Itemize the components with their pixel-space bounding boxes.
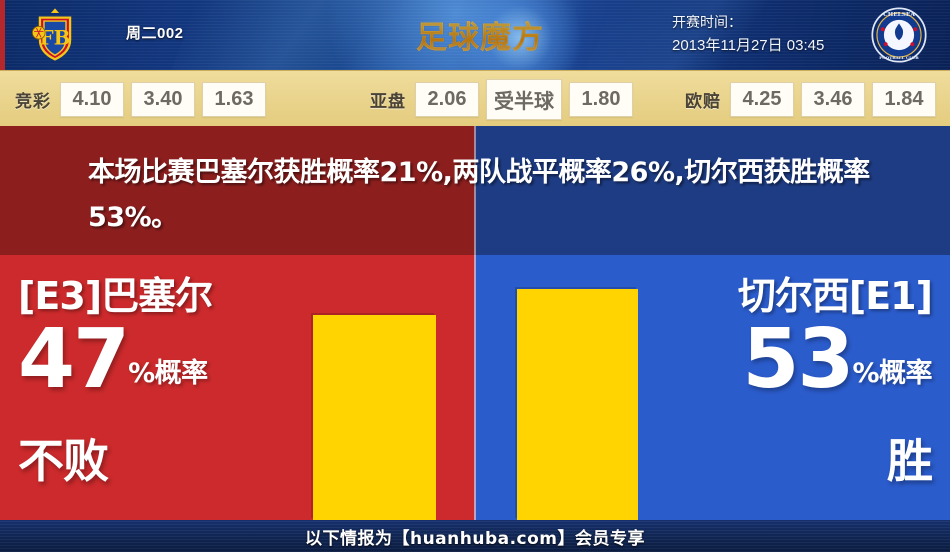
odds-group-label: 欧赔 — [685, 87, 721, 112]
header-left-accent — [0, 0, 5, 70]
probability-summary-text: 本场比赛巴塞尔获胜概率21%,两队战平概率26%,切尔西获胜概率53%。 — [88, 150, 878, 240]
odds-cell-draw[interactable]: 3.40 — [131, 82, 195, 117]
home-probability-row: 47 %概率 — [18, 323, 318, 397]
odds-group-asian-handicap: 亚盘 2.06 受半球 1.80 — [370, 71, 640, 127]
odds-cell-away-win[interactable]: 1.63 — [202, 82, 266, 117]
home-team-block: [E3]巴塞尔 47 %概率 不败 — [18, 255, 318, 520]
header-bar: FB 周二002 足球魔方 开赛时间： 2013年11月27日 03:45 CH… — [0, 0, 950, 70]
footer-bar: 以下情报为【huanhuba.com】会员专享 — [0, 520, 950, 552]
main-divider — [474, 255, 476, 520]
away-probability-row: 53 %概率 — [632, 323, 932, 397]
footer-text: 以下情报为【huanhuba.com】会员专享 — [305, 524, 645, 549]
odds-cell-home-win[interactable]: 4.10 — [60, 82, 124, 117]
away-probability-bar — [517, 289, 638, 520]
odds-group-european: 欧赔 4.25 3.46 1.84 — [685, 71, 943, 127]
match-preview-graphic: FB 周二002 足球魔方 开赛时间： 2013年11月27日 03:45 CH… — [0, 0, 950, 552]
kickoff-time: 2013年11月27日 03:45 — [672, 34, 824, 57]
home-verdict: 不败 — [18, 433, 318, 489]
brand-logo: 足球魔方 — [405, 6, 555, 62]
home-probability-value: 47 — [18, 323, 128, 397]
match-number: 周二002 — [126, 22, 184, 43]
home-probability-unit: %概率 — [128, 357, 208, 397]
odds-group-label: 竞彩 — [15, 87, 51, 112]
home-team-crest-icon: FB — [26, 6, 84, 64]
odds-group-jingcai: 竞彩 4.10 3.40 1.63 — [15, 71, 273, 127]
svg-text:CHELSEA: CHELSEA — [883, 12, 915, 18]
away-team-crest-icon: CHELSEA FOOTBALL CLUB — [868, 6, 930, 64]
odds-cell-euro-draw[interactable]: 3.46 — [801, 82, 865, 117]
kickoff-info: 开赛时间： 2013年11月27日 03:45 — [672, 11, 824, 57]
away-team-block: 切尔西[E1] 53 %概率 胜 — [632, 255, 932, 520]
away-probability-unit: %概率 — [852, 357, 932, 397]
away-team-name: 切尔西[E1] — [632, 275, 932, 317]
away-probability-value: 53 — [742, 323, 852, 397]
odds-cell-handicap-line[interactable]: 受半球 — [486, 79, 562, 120]
odds-cell-handicap-away[interactable]: 1.80 — [569, 82, 633, 117]
away-verdict: 胜 — [632, 433, 932, 489]
svg-text:FOOTBALL CLUB: FOOTBALL CLUB — [879, 55, 919, 60]
brand-logo-text: 足球魔方 — [416, 12, 544, 57]
home-probability-bar — [313, 315, 436, 520]
odds-strip: 竞彩 4.10 3.40 1.63 亚盘 2.06 受半球 1.80 欧赔 4.… — [0, 70, 950, 128]
kickoff-label: 开赛时间： — [672, 11, 824, 34]
odds-cell-euro-home[interactable]: 4.25 — [730, 82, 794, 117]
odds-group-label: 亚盘 — [370, 87, 406, 112]
odds-cell-handicap-home[interactable]: 2.06 — [415, 82, 479, 117]
probability-summary-banner: 本场比赛巴塞尔获胜概率21%,两队战平概率26%,切尔西获胜概率53%。 — [0, 126, 950, 255]
odds-cell-euro-away[interactable]: 1.84 — [872, 82, 936, 117]
home-team-name: [E3]巴塞尔 — [18, 275, 318, 317]
probability-comparison-chart: [E3]巴塞尔 47 %概率 不败 切尔西[E1] 53 %概率 胜 — [0, 255, 950, 520]
